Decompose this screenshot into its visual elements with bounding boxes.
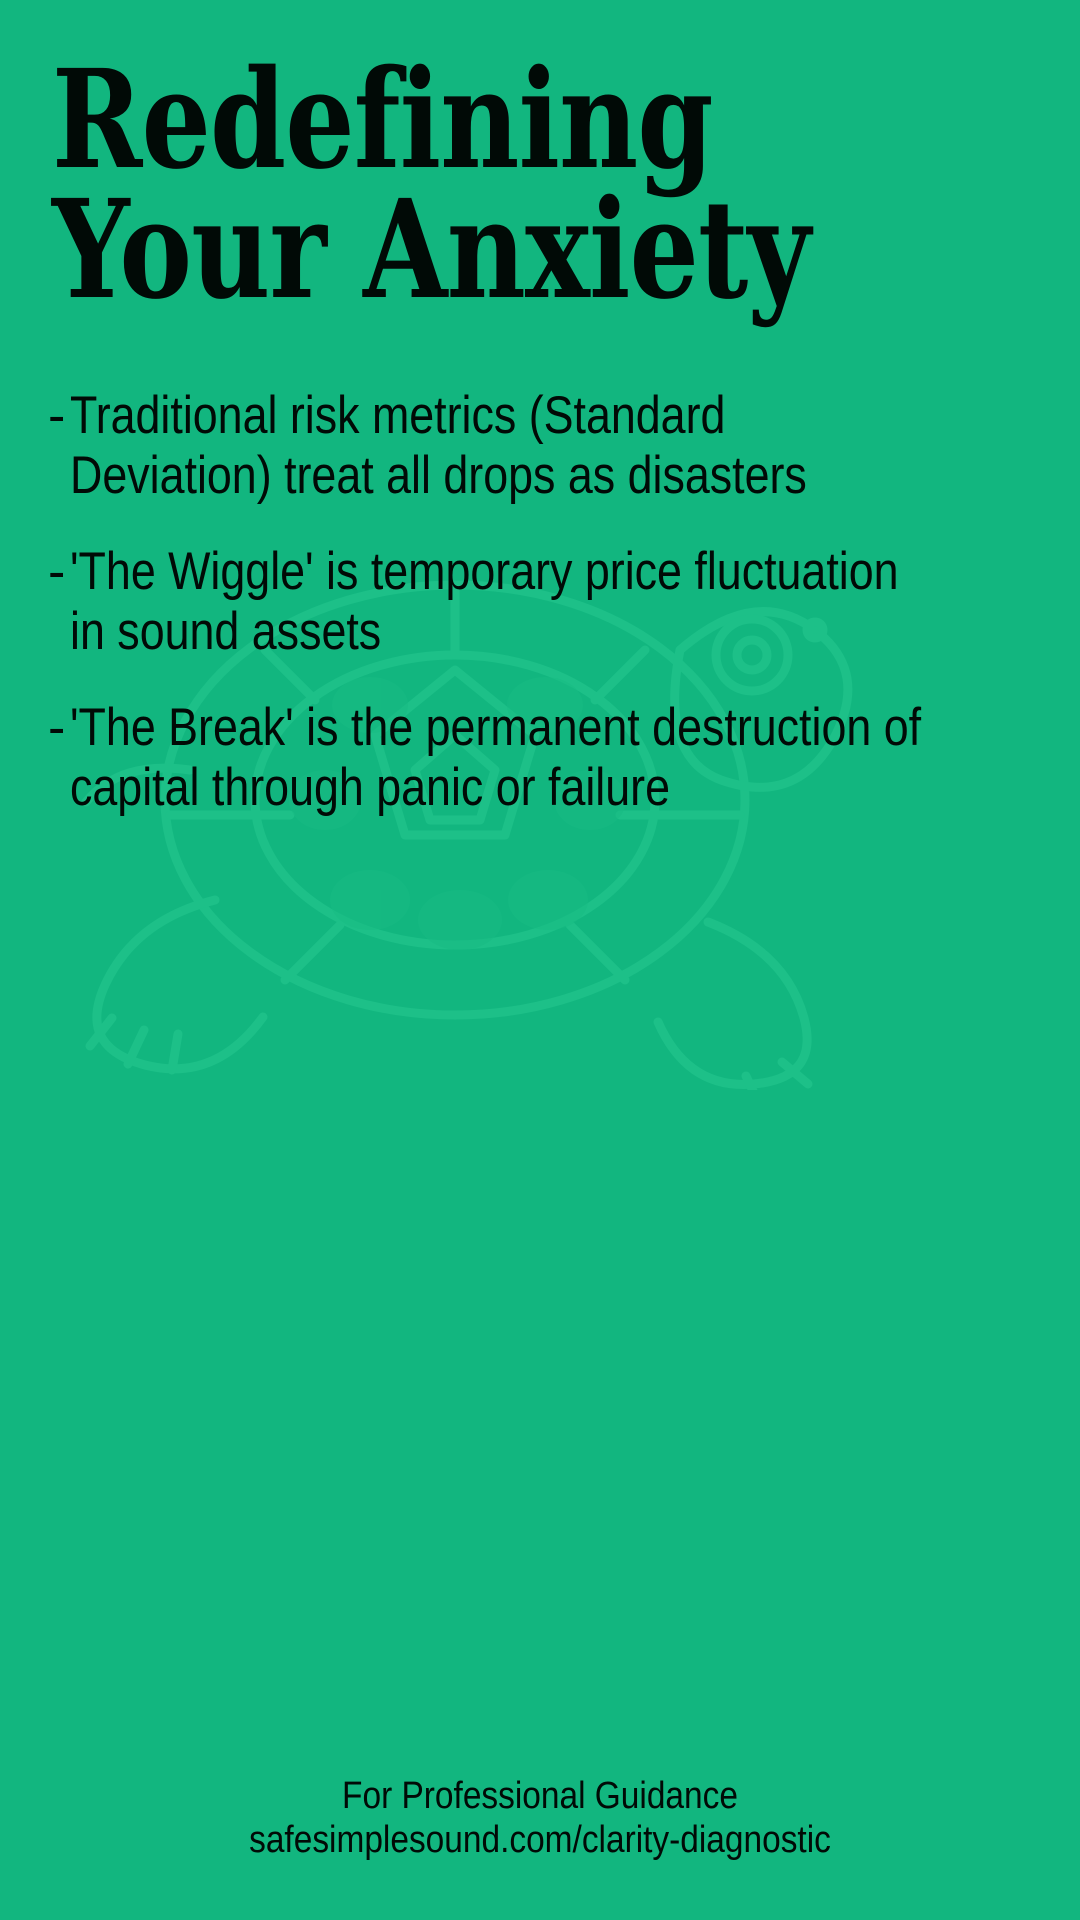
bullet-marker-icon: -	[0, 386, 70, 446]
footer-guidance-text: For Professional Guidance	[65, 1774, 1015, 1818]
page-title: Redefining Your Anxiety	[52, 55, 1012, 315]
title-line-2: Your Anxiety	[52, 185, 820, 315]
list-item: - 'The Wiggle' is temporary price fluctu…	[0, 542, 1080, 662]
footer-url[interactable]: safesimplesound.com/clarity-diagnostic	[65, 1818, 1015, 1862]
bullet-list: - Traditional risk metrics (Standard Dev…	[0, 386, 1080, 854]
footer: For Professional Guidance safesimplesoun…	[0, 1774, 1080, 1862]
bullet-marker-icon: -	[0, 698, 70, 758]
poster-canvas: Redefining Your Anxiety - Traditional ri…	[0, 0, 1080, 1920]
title-line-1: Redefining	[52, 55, 820, 185]
bullet-text: 'The Break' is the permanent destruction…	[70, 698, 923, 818]
bullet-text: 'The Wiggle' is temporary price fluctuat…	[70, 542, 923, 662]
list-item: - Traditional risk metrics (Standard Dev…	[0, 386, 1080, 506]
bullet-text: Traditional risk metrics (Standard Devia…	[70, 386, 923, 506]
bullet-marker-icon: -	[0, 542, 70, 602]
list-item: - 'The Break' is the permanent destructi…	[0, 698, 1080, 818]
